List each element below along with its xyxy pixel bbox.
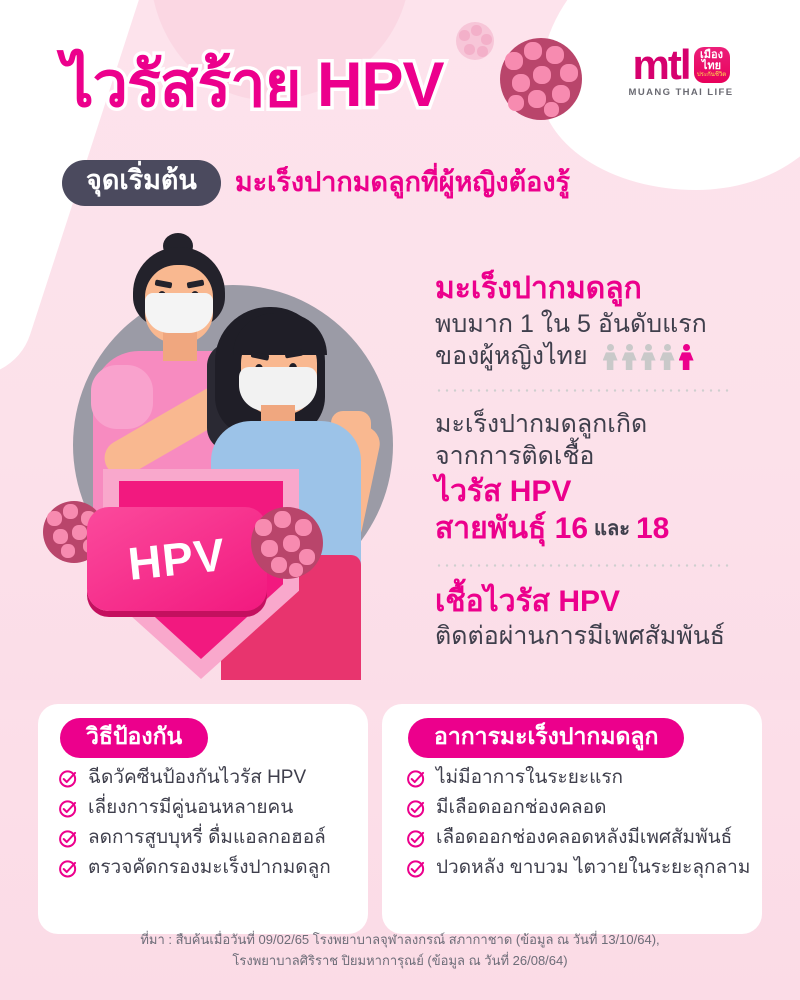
source-line-1: ที่มา : สืบค้นเมื่อวันที่ 09/02/65 โรงพย… <box>0 930 800 951</box>
info-block-2-pink1: ไวรัส HPV <box>435 473 755 511</box>
list-item-label: ตรวจคัดกรองมะเร็งปากมดลูก <box>88 858 331 879</box>
check-circle-icon <box>406 828 427 849</box>
list-item: ตรวจคัดกรองมะเร็งปากมดลูก <box>58 858 368 879</box>
list-item-label: ปวดหลัง ขาบวม ไตวายในระยะลุกลาม <box>436 858 750 879</box>
source-note: ที่มา : สืบค้นเมื่อวันที่ 09/02/65 โรงพย… <box>0 930 800 972</box>
subtitle-row: จุดเริ่มต้น มะเร็งปากมดลูกที่ผู้หญิงต้อง… <box>62 160 570 206</box>
info-block-2: มะเร็งปากมดลูกเกิด จากการติดเชื้อ ไวรัส … <box>435 408 755 548</box>
divider-dotted <box>435 564 730 567</box>
logo-wordmark: mtl <box>633 46 690 84</box>
symptoms-card: อาการมะเร็งปากมดลูก ไม่มีอาการในระยะแรก … <box>382 704 762 934</box>
prevention-list: ฉีดวัคซีนป้องกันไวรัส HPV เลี่ยงการมีคู่… <box>38 768 368 879</box>
subtitle-badge: จุดเริ่มต้น <box>62 160 221 206</box>
person-icon <box>622 344 637 370</box>
list-item: ไม่มีอาการในระยะแรก <box>406 768 762 789</box>
info-column: มะเร็งปากมดลูก พบมาก 1 ใน 5 อันดับแรก ขอ… <box>435 270 755 657</box>
virus-particle-icon <box>251 507 323 579</box>
list-item: ลดการสูบบุหรี่ ดื่มแอลกอฮอล์ <box>58 828 368 849</box>
info-block-2-connector: และ <box>588 512 636 548</box>
logo-row: mtl เมืองไทย ประกันชีวิต <box>606 46 756 84</box>
hero-illustration: HPV <box>35 225 425 680</box>
person-icon-highlighted <box>679 344 694 370</box>
symptoms-list: ไม่มีอาการในระยะแรก มีเลือดออกช่องคลอด เ… <box>382 768 762 879</box>
woman-a-face-mask-icon <box>145 293 213 333</box>
list-item: ฉีดวัคซีนป้องกันไวรัส HPV <box>58 768 368 789</box>
logo-thai-text: เมืองไทย <box>694 50 730 72</box>
brand-logo: mtl เมืองไทย ประกันชีวิต MUANG THAI LIFE <box>606 46 756 98</box>
prevention-card-title: วิธีป้องกัน <box>60 718 208 758</box>
info-block-2-line1: มะเร็งปากมดลูกเกิด <box>435 408 755 441</box>
list-item-label: ลดการสูบบุหรี่ ดื่มแอลกอฮอล์ <box>88 828 326 849</box>
check-circle-icon <box>58 858 79 879</box>
logo-thai-badge-icon: เมืองไทย ประกันชีวิต <box>694 47 730 83</box>
list-item: เลี่ยงการมีคู่นอนหลายคน <box>58 798 368 819</box>
person-icon <box>641 344 656 370</box>
subtitle-text: มะเร็งปากมดลูกที่ผู้หญิงต้องรู้ <box>235 168 570 198</box>
info-block-3: เชื้อไวรัส HPV ติดต่อผ่านการมีเพศสัมพันธ… <box>435 583 755 653</box>
woman-a-sleeve <box>91 365 153 429</box>
check-circle-icon <box>406 798 427 819</box>
list-item-label: ฉีดวัคซีนป้องกันไวรัส HPV <box>88 768 306 789</box>
info-block-1-heading: มะเร็งปากมดลูก <box>435 270 755 308</box>
list-item-label: มีเลือดออกช่องคลอด <box>436 798 606 819</box>
info-block-2-strain-16: สายพันธุ์ 16 <box>435 510 588 548</box>
info-block-1-line2-row: ของผู้หญิงไทย <box>435 340 755 373</box>
info-block-1-line1: พบมาก 1 ใน 5 อันดับแรก <box>435 308 755 341</box>
check-circle-icon <box>58 768 79 789</box>
bottom-cards: วิธีป้องกัน ฉีดวัคซีนป้องกันไวรัส HPV เล… <box>38 704 762 934</box>
list-item: เลือดออกช่องคลอดหลังมีเพศสัมพันธ์ <box>406 828 762 849</box>
info-block-2-line2: จากการติดเชื้อ <box>435 440 755 473</box>
divider-dotted <box>435 389 730 392</box>
source-line-2: โรงพยาบาลศิริราช ปิยมหาการุณย์ (ข้อมูล ณ… <box>0 951 800 972</box>
list-item: มีเลือดออกช่องคลอด <box>406 798 762 819</box>
logo-tagline: MUANG THAI LIFE <box>606 87 756 98</box>
info-block-1: มะเร็งปากมดลูก พบมาก 1 ใน 5 อันดับแรก ขอ… <box>435 270 755 373</box>
person-icon <box>603 344 618 370</box>
check-circle-icon <box>58 798 79 819</box>
prevention-card: วิธีป้องกัน ฉีดวัคซีนป้องกันไวรัส HPV เล… <box>38 704 368 934</box>
symptoms-card-title: อาการมะเร็งปากมดลูก <box>408 718 684 758</box>
info-block-2-strain-row: สายพันธุ์ 16 และ 18 <box>435 510 755 548</box>
list-item-label: เลือดออกช่องคลอดหลังมีเพศสัมพันธ์ <box>436 828 732 849</box>
info-block-1-line2: ของผู้หญิงไทย <box>435 342 588 370</box>
logo-thai-subtext: ประกันชีวิต <box>697 72 726 79</box>
woman-a-neck <box>163 331 197 361</box>
virus-particle-icon <box>456 22 494 60</box>
people-ratio-icons <box>603 344 694 370</box>
list-item-label: ไม่มีอาการในระยะแรก <box>436 768 623 789</box>
info-block-3-line1: ติดต่อผ่านการมีเพศสัมพันธ์ <box>435 620 755 653</box>
info-block-3-pink1: เชื้อไวรัส HPV <box>435 583 755 621</box>
person-icon <box>660 344 675 370</box>
hpv-shield-label: HPV <box>126 527 229 591</box>
list-item: ปวดหลัง ขาบวม ไตวายในระยะลุกลาม <box>406 858 762 879</box>
infographic-poster: ไวรัสร้าย HPV จุดเริ่มต้น มะเร็งปากมดลูก… <box>0 0 800 1000</box>
hpv-shield-badge: HPV <box>87 507 267 611</box>
list-item-label: เลี่ยงการมีคู่นอนหลายคน <box>88 798 293 819</box>
info-block-2-strain-18: 18 <box>636 510 669 548</box>
check-circle-icon <box>406 768 427 789</box>
virus-particle-icon <box>500 38 582 120</box>
check-circle-icon <box>406 858 427 879</box>
page-title: ไวรัสร้าย HPV <box>62 52 444 118</box>
check-circle-icon <box>58 828 79 849</box>
